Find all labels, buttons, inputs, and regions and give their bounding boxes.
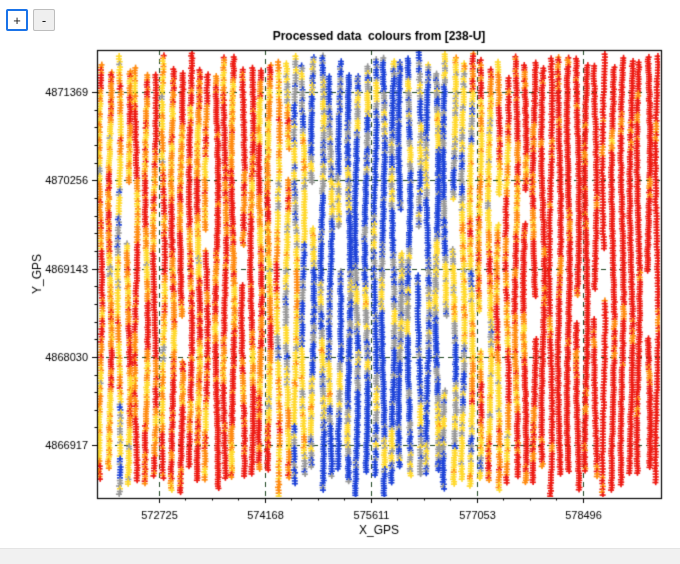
plot-window: + - — [0, 0, 680, 564]
zoom-out-button[interactable]: - — [33, 9, 55, 31]
zoom-in-button[interactable]: + — [6, 9, 28, 31]
horizontal-scrollbar[interactable] — [0, 548, 680, 564]
scatter-plot-canvas[interactable] — [0, 0, 680, 545]
scatter-plot-figure[interactable] — [0, 0, 680, 545]
zoom-toolbar: + - — [6, 9, 55, 31]
